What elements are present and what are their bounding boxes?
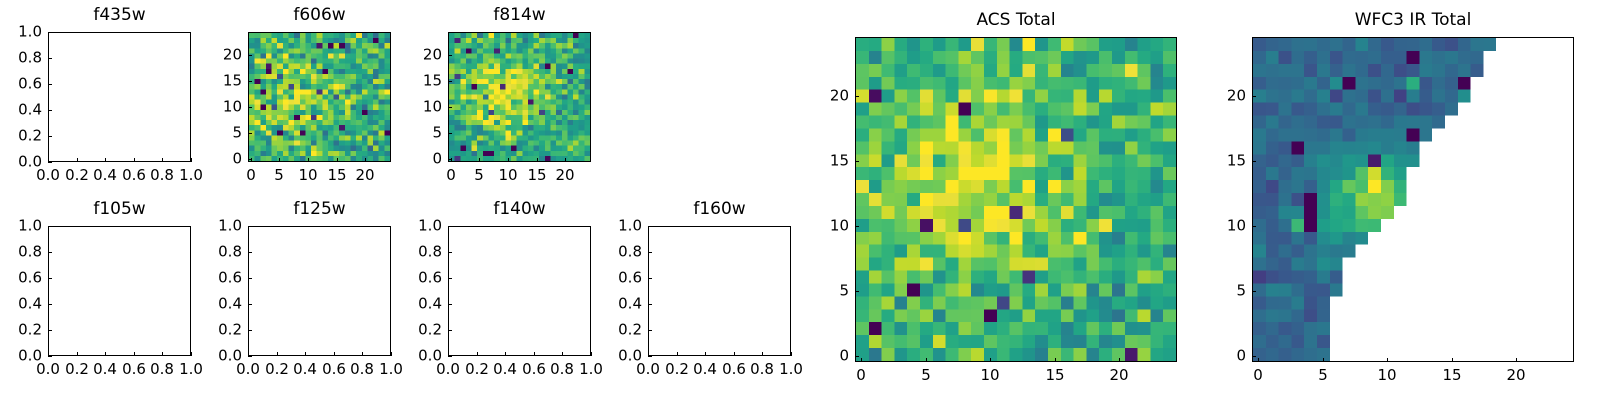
panel-title-acs-total: ACS Total [855,12,1177,29]
heatmap-image-f814w [449,33,590,161]
ytick-label: 0.8 [382,245,442,260]
ytick-mark [48,84,52,85]
xtick-label: 5 [474,168,484,183]
xtick-label: 0.2 [665,362,689,377]
panel-title-f435w: f435w [48,7,191,24]
xtick-label: 0.6 [322,362,346,377]
ytick-mark [448,226,452,227]
panel-title-f160w: f160w [648,201,791,218]
ytick-mark [648,356,652,357]
ytick-mark [448,304,452,305]
xtick-mark [105,158,106,162]
ytick-label: 20 [1186,89,1246,104]
ytick-label: 0.0 [382,349,442,364]
xtick-mark [77,352,78,356]
ytick-label: 0.6 [182,271,242,286]
xtick-mark [1452,358,1453,362]
ytick-mark [855,96,859,97]
ytick-mark [48,278,52,279]
panel-title-f606w: f606w [248,7,391,24]
heatmap-image-acs-total [856,38,1176,361]
xtick-mark [477,352,478,356]
xtick-label: 0.8 [150,362,174,377]
xtick-label: 0.8 [150,168,174,183]
panel-f435w: f435w0.00.20.40.60.81.00.00.20.40.60.81.… [48,32,191,162]
panel-title-f140w: f140w [448,201,591,218]
panel-f125w: f125w0.00.20.40.60.81.00.00.20.40.60.81.… [248,226,391,356]
xtick-mark [1516,358,1517,362]
ytick-label: 0.4 [582,297,642,312]
xtick-label: 20 [1109,368,1128,383]
ytick-mark [248,81,252,82]
ytick-mark [248,226,252,227]
ytick-label: 20 [182,48,242,63]
ytick-mark [48,162,52,163]
xtick-label: 5 [1318,368,1328,383]
panel-f105w: f105w0.00.20.40.60.81.00.00.20.40.60.81.… [48,226,191,356]
xtick-label: 0.4 [93,168,117,183]
panel-f606w: f606w0510152005101520 [248,32,391,162]
panel-title-f105w: f105w [48,201,191,218]
xtick-mark [365,158,366,162]
xtick-label: 0 [1253,368,1263,383]
xtick-label: 10 [498,168,517,183]
xtick-label: 1.0 [379,362,403,377]
ytick-mark [248,159,252,160]
ytick-mark [1252,161,1256,162]
xtick-mark [277,352,278,356]
xtick-label: 0.4 [693,362,717,377]
ytick-mark [248,107,252,108]
axes-area-f160w [648,226,791,356]
xtick-label: 10 [298,168,317,183]
axes-area-wfc3-ir-total [1252,37,1574,362]
xtick-label: 0.2 [65,362,89,377]
xtick-mark [861,358,862,362]
xtick-mark [734,352,735,356]
ytick-label: 0.0 [582,349,642,364]
xtick-mark [162,158,163,162]
ytick-label: 10 [1186,219,1246,234]
xtick-mark [334,352,335,356]
ytick-label: 0.4 [0,297,42,312]
xtick-mark [362,352,363,356]
xtick-mark [134,158,135,162]
xtick-mark [534,352,535,356]
heatmap-image-f606w [249,33,390,161]
xtick-mark [677,352,678,356]
xtick-mark [1258,358,1259,362]
ytick-mark [48,356,52,357]
xtick-label: 15 [1045,368,1064,383]
xtick-mark [508,158,509,162]
xtick-label: 15 [327,168,346,183]
ytick-mark [648,304,652,305]
xtick-mark [926,358,927,362]
xtick-mark [505,352,506,356]
ytick-label: 0.2 [0,323,42,338]
ytick-mark [248,304,252,305]
ytick-mark [448,81,452,82]
ytick-mark [48,226,52,227]
ytick-label: 0.0 [0,155,42,170]
axes-area-acs-total [855,37,1177,362]
axes-area-f105w [48,226,191,356]
xtick-label: 0.4 [93,362,117,377]
ytick-label: 0.4 [0,103,42,118]
ytick-label: 0.8 [0,51,42,66]
ytick-mark [48,110,52,111]
panel-f160w: f160w0.00.20.40.60.81.00.00.20.40.60.81.… [648,226,791,356]
ytick-label: 0.4 [382,297,442,312]
panel-f140w: f140w0.00.20.40.60.81.00.00.20.40.60.81.… [448,226,591,356]
ytick-label: 0.2 [582,323,642,338]
ytick-label: 0.0 [0,349,42,364]
xtick-label: 0.4 [293,362,317,377]
ytick-label: 15 [382,74,442,89]
ytick-label: 15 [789,154,849,169]
ytick-label: 0.4 [182,297,242,312]
xtick-label: 0 [246,168,256,183]
ytick-label: 20 [789,89,849,104]
panel-title-f125w: f125w [248,201,391,218]
xtick-label: 20 [555,168,574,183]
xtick-mark [337,158,338,162]
ytick-mark [48,330,52,331]
ytick-mark [855,226,859,227]
ytick-label: 0.2 [0,129,42,144]
ytick-mark [448,330,452,331]
xtick-label: 5 [921,368,931,383]
panel-acs-total: ACS Total0510152005101520 [855,37,1177,362]
ytick-label: 0.2 [182,323,242,338]
ytick-label: 1.0 [582,219,642,234]
axes-area-f140w [448,226,591,356]
ytick-mark [448,278,452,279]
xtick-label: 0.8 [550,362,574,377]
ytick-label: 0 [182,152,242,167]
xtick-label: 1.0 [779,362,803,377]
ytick-mark [248,356,252,357]
xtick-label: 0.6 [122,362,146,377]
xtick-mark [1055,358,1056,362]
ytick-mark [248,55,252,56]
ytick-label: 10 [382,100,442,115]
ytick-label: 5 [382,126,442,141]
axes-area-f606w [248,32,391,162]
xtick-mark [305,352,306,356]
ytick-label: 1.0 [0,25,42,40]
ytick-label: 0.6 [382,271,442,286]
xtick-label: 1.0 [179,362,203,377]
ytick-mark [448,107,452,108]
ytick-label: 0 [789,349,849,364]
xtick-label: 0 [856,368,866,383]
ytick-label: 10 [789,219,849,234]
xtick-label: 10 [980,368,999,383]
ytick-mark [648,278,652,279]
ytick-mark [248,278,252,279]
ytick-label: 1.0 [0,219,42,234]
ytick-label: 1.0 [182,219,242,234]
xtick-label: 20 [355,168,374,183]
axes-area-f814w [448,32,591,162]
ytick-label: 5 [789,284,849,299]
xtick-mark [762,352,763,356]
ytick-mark [648,252,652,253]
xtick-mark [479,158,480,162]
ytick-label: 5 [182,126,242,141]
xtick-label: 15 [1442,368,1461,383]
xtick-label: 1.0 [579,362,603,377]
xtick-mark [1387,358,1388,362]
axes-area-f435w [48,32,191,162]
ytick-mark [1252,356,1256,357]
xtick-label: 1.0 [179,168,203,183]
ytick-mark [448,159,452,160]
xtick-label: 0.2 [265,362,289,377]
xtick-label: 0.8 [750,362,774,377]
ytick-mark [855,356,859,357]
xtick-mark [162,352,163,356]
ytick-mark [448,252,452,253]
ytick-mark [48,304,52,305]
ytick-mark [248,252,252,253]
ytick-label: 0 [382,152,442,167]
ytick-label: 5 [1186,284,1246,299]
xtick-mark [105,352,106,356]
ytick-label: 0.6 [0,271,42,286]
ytick-mark [48,58,52,59]
ytick-mark [48,252,52,253]
xtick-label: 0.8 [350,362,374,377]
xtick-mark [77,158,78,162]
xtick-mark [279,158,280,162]
ytick-mark [248,330,252,331]
ytick-label: 0.6 [0,77,42,92]
ytick-label: 0.8 [582,245,642,260]
xtick-label: 0.4 [493,362,517,377]
xtick-label: 0.6 [522,362,546,377]
xtick-label: 0 [446,168,456,183]
xtick-label: 0.2 [65,168,89,183]
xtick-mark [1119,358,1120,362]
xtick-mark [1323,358,1324,362]
ytick-label: 15 [182,74,242,89]
ytick-mark [248,133,252,134]
ytick-label: 0.8 [0,245,42,260]
xtick-mark [565,158,566,162]
xtick-label: 10 [1377,368,1396,383]
ytick-mark [448,133,452,134]
xtick-label: 20 [1506,368,1525,383]
ytick-label: 0.8 [182,245,242,260]
ytick-mark [855,291,859,292]
ytick-label: 0.6 [582,271,642,286]
ytick-label: 0.0 [182,349,242,364]
ytick-mark [448,356,452,357]
panel-title-wfc3-ir-total: WFC3 IR Total [1252,12,1574,29]
axes-area-f125w [248,226,391,356]
xtick-mark [537,158,538,162]
ytick-mark [648,330,652,331]
xtick-label: 0.6 [722,362,746,377]
xtick-mark [705,352,706,356]
ytick-mark [1252,96,1256,97]
xtick-label: 5 [274,168,284,183]
ytick-label: 0.2 [382,323,442,338]
panel-title-f814w: f814w [448,7,591,24]
ytick-mark [1252,226,1256,227]
ytick-mark [48,32,52,33]
ytick-label: 15 [1186,154,1246,169]
ytick-mark [1252,291,1256,292]
xtick-mark [134,352,135,356]
ytick-mark [648,226,652,227]
ytick-mark [855,161,859,162]
xtick-label: 0.2 [465,362,489,377]
ytick-mark [48,136,52,137]
figure-canvas: f435w0.00.20.40.60.81.00.00.20.40.60.81.… [0,0,1600,400]
panel-wfc3-ir-total: WFC3 IR Total0510152005101520 [1252,37,1574,362]
ytick-label: 10 [182,100,242,115]
xtick-label: 15 [527,168,546,183]
xtick-mark [308,158,309,162]
ytick-label: 1.0 [382,219,442,234]
ytick-mark [448,55,452,56]
xtick-mark [990,358,991,362]
ytick-label: 20 [382,48,442,63]
ytick-label: 0 [1186,349,1246,364]
heatmap-image-wfc3-ir-total [1253,38,1573,361]
panel-f814w: f814w0510152005101520 [448,32,591,162]
xtick-mark [562,352,563,356]
xtick-label: 0.6 [122,168,146,183]
